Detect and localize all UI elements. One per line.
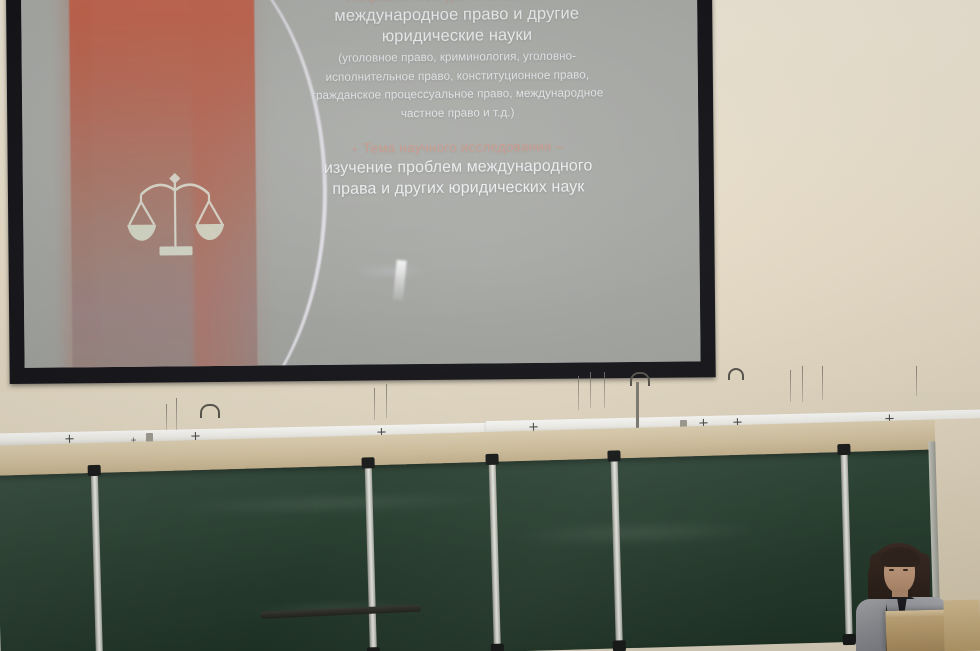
divider-cap-bottom: [491, 644, 504, 651]
rail-wire: [604, 372, 605, 408]
rail-wire: [802, 366, 803, 402]
slide-note-1-4: частное право и т.д.): [230, 100, 685, 123]
rail-wire: [916, 366, 917, 396]
divider-cap-top: [607, 450, 620, 461]
lecture-hall-photo: •Направлением деятельности СНК – междуна…: [0, 0, 980, 651]
presenter-eye-left: [889, 569, 894, 571]
chalkboard-assembly: [0, 418, 980, 651]
divider-cap-bottom: [613, 640, 626, 651]
slide-heading-1-text: Направлением деятельности СНК –: [345, 0, 577, 4]
projection-screen: •Направлением деятельности СНК – междуна…: [6, 0, 716, 384]
slide-block-2: •Тема научного исследования – изучение п…: [230, 137, 686, 200]
bullet-dot-icon-2: •: [353, 144, 357, 156]
divider-cap-top: [361, 457, 374, 468]
scales-of-justice-icon: [123, 168, 228, 265]
presenter-eye-right: [903, 569, 908, 571]
screen-smudge: [354, 264, 426, 279]
divider-cap-bottom: [367, 647, 380, 651]
rail-wire: [822, 366, 823, 400]
chalkboard: [0, 448, 980, 651]
rail-hook-icon: [630, 372, 650, 386]
divider-cap-top: [837, 444, 850, 455]
rail-wire: [374, 388, 375, 420]
projected-slide: •Направлением деятельности СНК – междуна…: [21, 0, 701, 368]
divider-cap-top: [485, 454, 498, 465]
slide-text-content: •Направлением деятельности СНК – междуна…: [229, 0, 686, 201]
lectern-side-panel: [943, 600, 980, 651]
slide-heading-2-text: Тема научного исследования –: [363, 139, 563, 156]
slide-block-1: •Направлением деятельности СНК – междуна…: [229, 0, 685, 123]
rail-wire: [790, 370, 791, 402]
rail-wire: [386, 384, 387, 418]
rail-wire: [590, 372, 591, 408]
divider-cap-top: [88, 465, 101, 476]
rail-hook-icon: [728, 368, 744, 380]
rail-wire: [176, 398, 177, 430]
bullet-dot-icon: •: [335, 0, 339, 4]
rail-hook-icon: [200, 404, 220, 418]
rail-wire: [166, 404, 167, 430]
slide-line-2-2: права и других юридических наук: [231, 175, 686, 200]
rail-wire: [578, 376, 579, 410]
